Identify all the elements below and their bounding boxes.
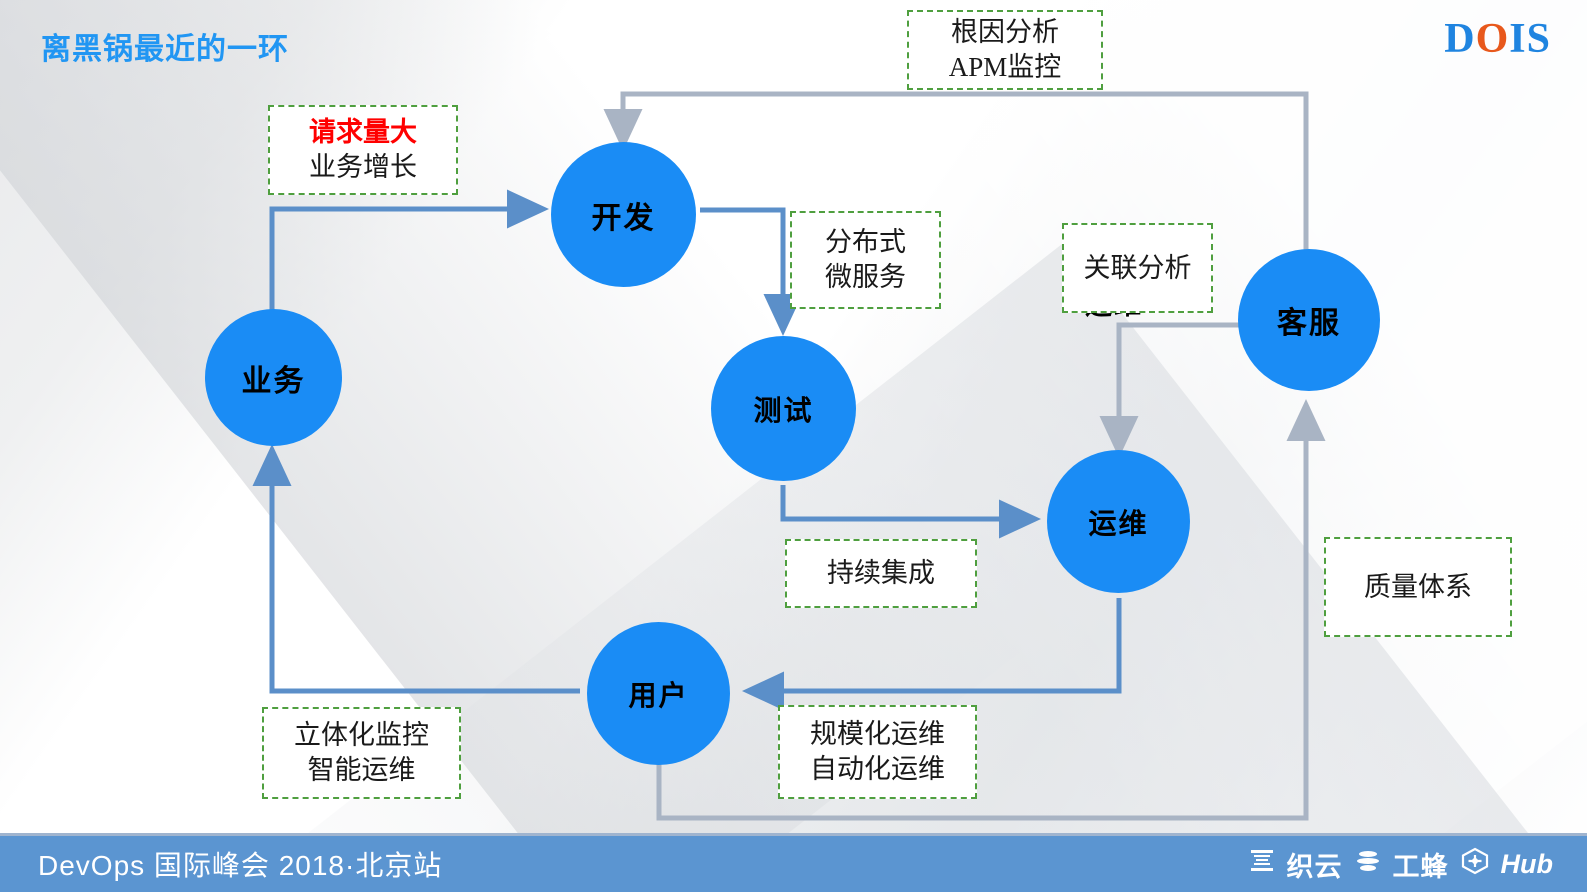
wire-dev-to-test — [700, 210, 783, 330]
node-test-label: 测试 — [753, 389, 813, 429]
dois-logo-is: IS — [1509, 16, 1551, 62]
wire-support-to-ops — [1119, 325, 1240, 452]
node-user[interactable]: 用户 — [587, 622, 730, 765]
wire-business-to-dev — [272, 209, 543, 318]
note-demand-line2: 业务增长 — [309, 150, 417, 185]
node-support[interactable]: 客服 — [1238, 249, 1380, 391]
node-test[interactable]: 测试 — [711, 336, 856, 481]
note-rootcause: 根因分析 APM监控 — [907, 10, 1103, 90]
note-quality: 质量体系 — [1324, 537, 1512, 637]
node-business-label: 业务 — [242, 356, 306, 400]
brand-hub: Hub — [1501, 849, 1553, 880]
footer-bar: DevOps 国际峰会 2018·北京站 织云 — [0, 836, 1587, 892]
dois-logo: DOIS — [1444, 18, 1551, 60]
note-rootcause-line1: 根因分析 — [951, 15, 1059, 50]
note-correlation: 关联分析 — [1062, 223, 1213, 313]
node-ops[interactable]: 运维 — [1047, 450, 1190, 593]
note-quality-line1: 质量体系 — [1364, 570, 1472, 605]
node-dev[interactable]: 开发 — [551, 142, 696, 287]
dois-logo-d: D — [1444, 16, 1475, 62]
note-ci: 持续集成 — [785, 539, 977, 608]
note-microservice: 分布式 微服务 — [790, 211, 941, 309]
node-support-label: 客服 — [1277, 298, 1341, 342]
note-demand: 请求量大 业务增长 — [268, 105, 458, 195]
note-ci-line1: 持续集成 — [827, 556, 935, 591]
note-correlation-line1: 关联分析 — [1084, 251, 1192, 286]
node-business[interactable]: 业务 — [205, 309, 342, 446]
note-monitoring-line2: 智能运维 — [308, 753, 416, 788]
brand-gongfeng: 工蜂 — [1393, 845, 1449, 884]
gongfeng-icon — [1353, 846, 1383, 883]
hub-cube-icon — [1459, 846, 1491, 883]
node-ops-label: 运维 — [1088, 502, 1148, 542]
note-demand-line1: 请求量大 — [309, 115, 417, 150]
footer-title: DevOps 国际峰会 2018·北京站 — [38, 844, 442, 884]
slide-canvas: 离黑锅最近的一环 DOIS — [0, 0, 1587, 892]
note-rootcause-line2: APM监控 — [949, 50, 1062, 85]
page-title: 离黑锅最近的一环 — [41, 24, 289, 68]
note-microservice-line2: 微服务 — [825, 260, 906, 295]
wire-ops-to-user — [748, 598, 1119, 691]
wire-user-to-business — [272, 450, 580, 691]
note-monitoring: 立体化监控 智能运维 — [262, 707, 461, 799]
node-user-label: 用户 — [628, 674, 688, 714]
note-scale-ops-line1: 规模化运维 — [810, 717, 945, 752]
note-scale-ops: 规模化运维 自动化运维 — [778, 705, 977, 799]
footer-brands: 织云 工蜂 — [1247, 845, 1553, 884]
dois-logo-o: O — [1476, 16, 1510, 62]
yunzhi-icon — [1247, 846, 1277, 883]
brand-yunzhi: 织云 — [1287, 845, 1343, 884]
note-scale-ops-line2: 自动化运维 — [810, 752, 945, 787]
node-dev-label: 开发 — [592, 193, 656, 237]
wire-test-to-ops — [783, 485, 1035, 519]
note-monitoring-line1: 立体化监控 — [294, 718, 429, 753]
note-microservice-line1: 分布式 — [825, 225, 906, 260]
